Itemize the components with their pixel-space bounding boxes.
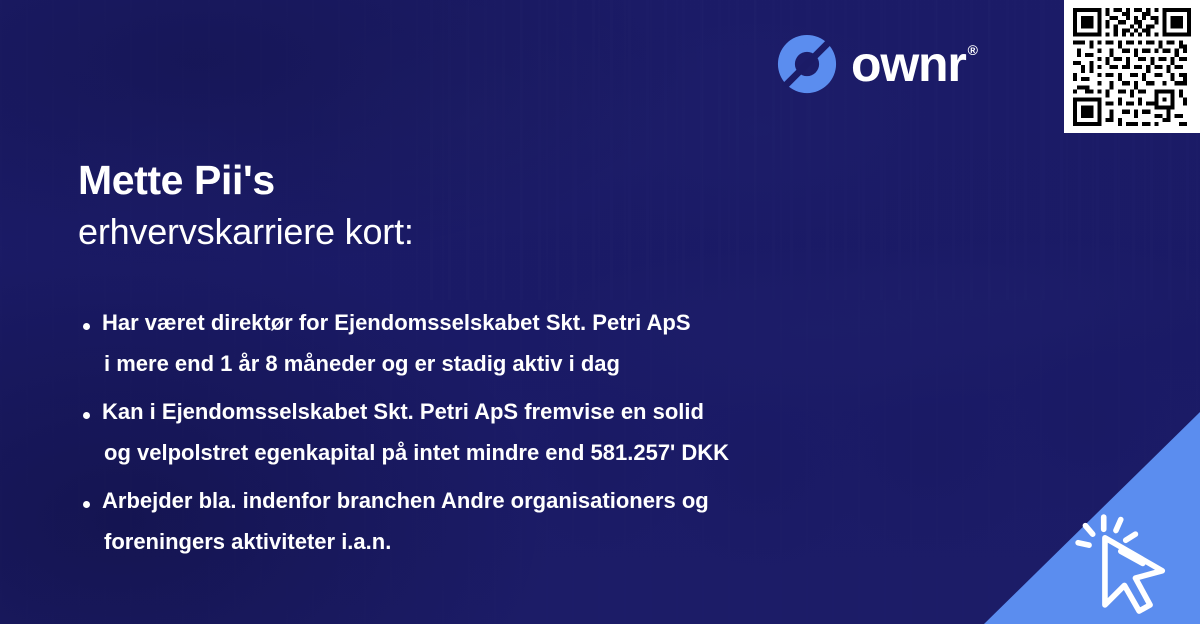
list-item-line1: Har været direktør for Ejendomsselskabet… xyxy=(102,312,980,334)
list-item-line2: og velpolstret egenkapital på intet mind… xyxy=(104,442,980,464)
ownr-wordmark: ownr ® xyxy=(851,39,977,89)
ownr-logo[interactable]: ownr ® xyxy=(776,33,977,95)
list-item-line1: Arbejder bla. indenfor branchen Andre or… xyxy=(102,490,980,512)
registered-trademark-icon: ® xyxy=(968,43,977,57)
qr-code-icon xyxy=(1073,8,1191,126)
ownr-circle-mark-icon xyxy=(776,33,838,95)
click-cursor-icon[interactable] xyxy=(1072,500,1194,622)
career-facts-list: Har været direktør for Ejendomsselskabet… xyxy=(80,312,980,553)
qr-code-panel[interactable] xyxy=(1064,0,1200,133)
list-item: Har været direktør for Ejendomsselskabet… xyxy=(80,312,980,375)
headline: Mette Pii's erhvervskarriere kort: xyxy=(78,158,414,253)
list-item: Arbejder bla. indenfor branchen Andre or… xyxy=(80,490,980,553)
list-item-line2: i mere end 1 år 8 måneder og er stadig a… xyxy=(104,353,980,375)
bullet-dot-icon xyxy=(83,501,90,508)
bullet-dot-icon xyxy=(83,323,90,330)
list-item-line2: foreningers aktiviteter i.a.n. xyxy=(104,531,980,553)
ownr-wordmark-text: ownr xyxy=(851,39,966,89)
person-name-title: Mette Pii's xyxy=(78,158,414,204)
ownr-company-card: ownr ® xyxy=(0,0,1200,624)
headline-subtitle: erhvervskarriere kort: xyxy=(78,210,414,253)
list-item: Kan i Ejendomsselskabet Skt. Petri ApS f… xyxy=(80,401,980,464)
list-item-line1: Kan i Ejendomsselskabet Skt. Petri ApS f… xyxy=(102,401,980,423)
bullet-dot-icon xyxy=(83,412,90,419)
